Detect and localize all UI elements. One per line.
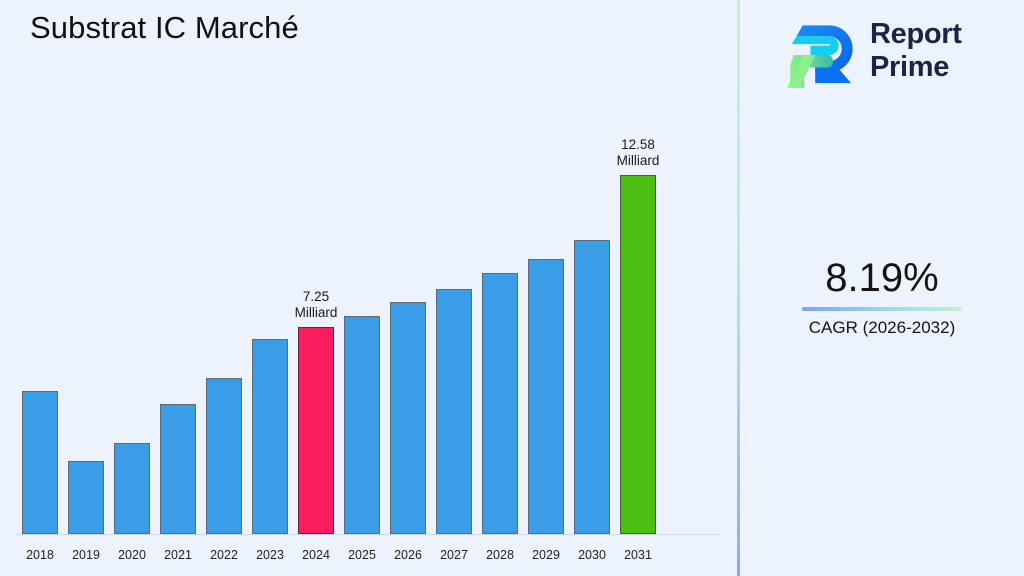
bar-2031[interactable] [620,175,656,534]
cagr-divider-rule [802,307,962,311]
cagr-block: 8.19% CAGR (2026-2032) [740,255,1024,339]
bar-group: 12.58 Milliard2031 [615,100,661,534]
bar-2022[interactable] [206,378,242,534]
bar-2020[interactable] [114,443,150,534]
x-axis-line [15,534,720,535]
bar-group: 2029 [523,100,569,534]
cagr-label: CAGR (2026-2032) [740,317,1024,339]
bar-group: 2027 [431,100,477,534]
brand-name-line1: Report [870,18,962,51]
bar-2018[interactable] [22,391,58,534]
bar-group: 2022 [201,100,247,534]
bar-2025[interactable] [344,316,380,534]
infographic-root: Substrat IC Marché 201820192020202120222… [0,0,1024,576]
bar-2026[interactable] [390,302,426,534]
cagr-value: 8.19% [740,255,1024,301]
bar-group: 2018 [17,100,63,534]
bar-2021[interactable] [160,404,196,534]
report-prime-logo[interactable]: Report Prime [762,12,1012,96]
bar-value-label-2031: 12.58 Milliard [601,137,675,169]
bar-group: 7.25 Milliard2024 [293,100,339,534]
brand-name: Report Prime [870,18,962,84]
bar-2030[interactable] [574,240,610,534]
bar-chart: 2018201920202021202220237.25 Milliard202… [0,100,737,576]
bar-group: 2021 [155,100,201,534]
bar-group: 2026 [385,100,431,534]
x-tick-2031: 2031 [606,548,670,562]
bar-2027[interactable] [436,289,472,534]
bar-2023[interactable] [252,339,288,534]
bar-group: 2028 [477,100,523,534]
bar-2028[interactable] [482,273,518,534]
bar-group: 2020 [109,100,155,534]
bar-group: 2019 [63,100,109,534]
bar-2019[interactable] [68,461,104,534]
bar-2024[interactable] [298,327,334,534]
bar-group: 2025 [339,100,385,534]
report-prime-logo-icon [784,16,862,94]
side-panel: Report Prime 8.19% CAGR (2026-2032) [740,0,1024,576]
chart-panel: Substrat IC Marché 201820192020202120222… [0,0,737,576]
brand-name-line2: Prime [870,51,962,84]
page-title: Substrat IC Marché [30,10,299,46]
bar-2029[interactable] [528,259,564,534]
